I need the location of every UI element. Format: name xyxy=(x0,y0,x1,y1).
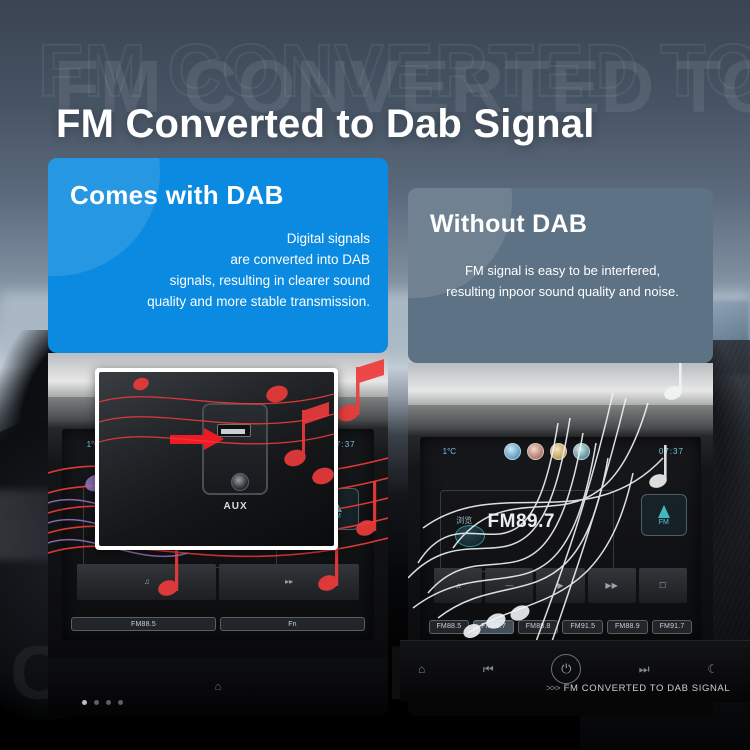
poster-canvas: FM CONVERTED TO FM CONVERTED TO CONVERTE… xyxy=(0,0,750,750)
home-icon[interactable]: ⌂ xyxy=(215,681,222,693)
dot xyxy=(82,700,87,705)
hardware-buttons[interactable]: ⌂ ⏮ ⏻ ⏭ ☾ xyxy=(418,654,718,684)
aux-port-image: AUX xyxy=(99,372,334,546)
preset-row-right[interactable]: FM88.5 FM89.7 FM88.8 FM91.5 FM88.9 FM91.… xyxy=(429,620,693,634)
frequency-readout: FM89.7 xyxy=(488,511,555,533)
settings-icon[interactable] xyxy=(573,443,590,460)
phone-icon[interactable] xyxy=(527,443,544,460)
windshield xyxy=(408,363,713,409)
prev-button[interactable]: — xyxy=(485,568,533,603)
save-button[interactable]: ☐ xyxy=(639,568,687,603)
preset-button[interactable]: FM88.5 xyxy=(429,620,470,634)
navigation-icon[interactable] xyxy=(550,443,567,460)
aux-label: AUX xyxy=(224,501,248,512)
temperature-readout: 1°C xyxy=(443,447,456,456)
preset-button[interactable]: FM91.7 xyxy=(652,620,693,634)
prev-icon[interactable]: ⏮ xyxy=(483,662,494,677)
dot xyxy=(118,700,123,705)
card-body-left: Digital signals are converted into DAB s… xyxy=(70,229,370,313)
indicator-dots xyxy=(82,700,123,705)
card-body-line: Digital signals xyxy=(70,229,370,250)
inset-photo-aux-port: AUX xyxy=(95,368,338,550)
fast-forward-button[interactable]: ▶▶ xyxy=(588,568,636,603)
card-without-dab: Without DAB FM signal is easy to be inte… xyxy=(408,188,713,363)
card-body-line: signals, resulting in clearer sound xyxy=(70,271,370,292)
dot xyxy=(106,700,111,705)
tuner-dial-icon[interactable] xyxy=(455,525,485,547)
head-unit-screen-right: 1°C 07:37 浏览 FM89.7 xyxy=(420,437,701,642)
clock-readout: 07:37 xyxy=(659,447,684,456)
card-heading-right: Without DAB xyxy=(430,210,695,239)
preset-button[interactable]: FM88.8 xyxy=(518,620,559,634)
moon-icon[interactable]: ☾ xyxy=(707,662,718,676)
card-heading-left: Comes with DAB xyxy=(70,180,370,211)
function-button-row[interactable]: ♫ ▸▸ xyxy=(77,564,359,600)
play-button[interactable]: ▶ xyxy=(536,568,584,603)
band-button[interactable]: FM xyxy=(641,494,687,536)
preset-button[interactable]: FM89.7 xyxy=(473,620,514,634)
caption-text: FM CONVERTED TO DAB SIGNAL xyxy=(564,683,731,694)
panel-without-dab: Without DAB FM signal is easy to be inte… xyxy=(408,188,713,716)
bottom-caption: >>>FM CONVERTED TO DAB SIGNAL xyxy=(546,683,730,694)
dashboard-top xyxy=(408,405,713,437)
antenna-icon xyxy=(658,505,670,518)
app-icon-row[interactable] xyxy=(504,443,590,460)
media-icon[interactable] xyxy=(504,443,521,460)
aux-jack-icon xyxy=(231,473,249,491)
transport-button-row[interactable]: ♫ — ▶ ▶▶ ☐ xyxy=(434,568,687,603)
home-icon[interactable]: ⌂ xyxy=(418,662,425,676)
dot xyxy=(94,700,99,705)
preset-button[interactable]: FM91.5 xyxy=(562,620,603,634)
card-body-line: resulting inpoor sound quality and noise… xyxy=(430,282,695,303)
seek-button[interactable]: ♫ xyxy=(77,564,216,600)
band-label: FM xyxy=(659,519,669,526)
power-icon[interactable]: ⏻ xyxy=(551,654,581,684)
preset-button[interactable]: FM88.9 xyxy=(607,620,648,634)
card-comes-with-dab: Comes with DAB Digital signals are conve… xyxy=(48,158,388,353)
seek-button[interactable]: ♫ xyxy=(434,568,482,603)
chevron-right-icon: >>> xyxy=(546,683,560,694)
page-title: FM Converted to Dab Signal xyxy=(56,102,595,147)
next-icon[interactable]: ⏭ xyxy=(639,662,650,677)
red-arrow-icon xyxy=(170,431,228,447)
hardware-button-bar-left[interactable]: ⌂ xyxy=(48,658,388,716)
card-body-right: FM signal is easy to be interfered, resu… xyxy=(430,261,695,303)
next-button[interactable]: ▸▸ xyxy=(219,564,358,600)
preset-row-left[interactable]: FM88.5 Fn xyxy=(71,617,365,631)
preset-button[interactable]: FM88.5 xyxy=(71,617,216,631)
preset-button[interactable]: Fn xyxy=(220,617,365,631)
card-body-line: are converted into DAB xyxy=(70,250,370,271)
card-body-line: FM signal is easy to be interfered, xyxy=(430,261,695,282)
card-body-line: quality and more stable transmission. xyxy=(70,292,370,313)
